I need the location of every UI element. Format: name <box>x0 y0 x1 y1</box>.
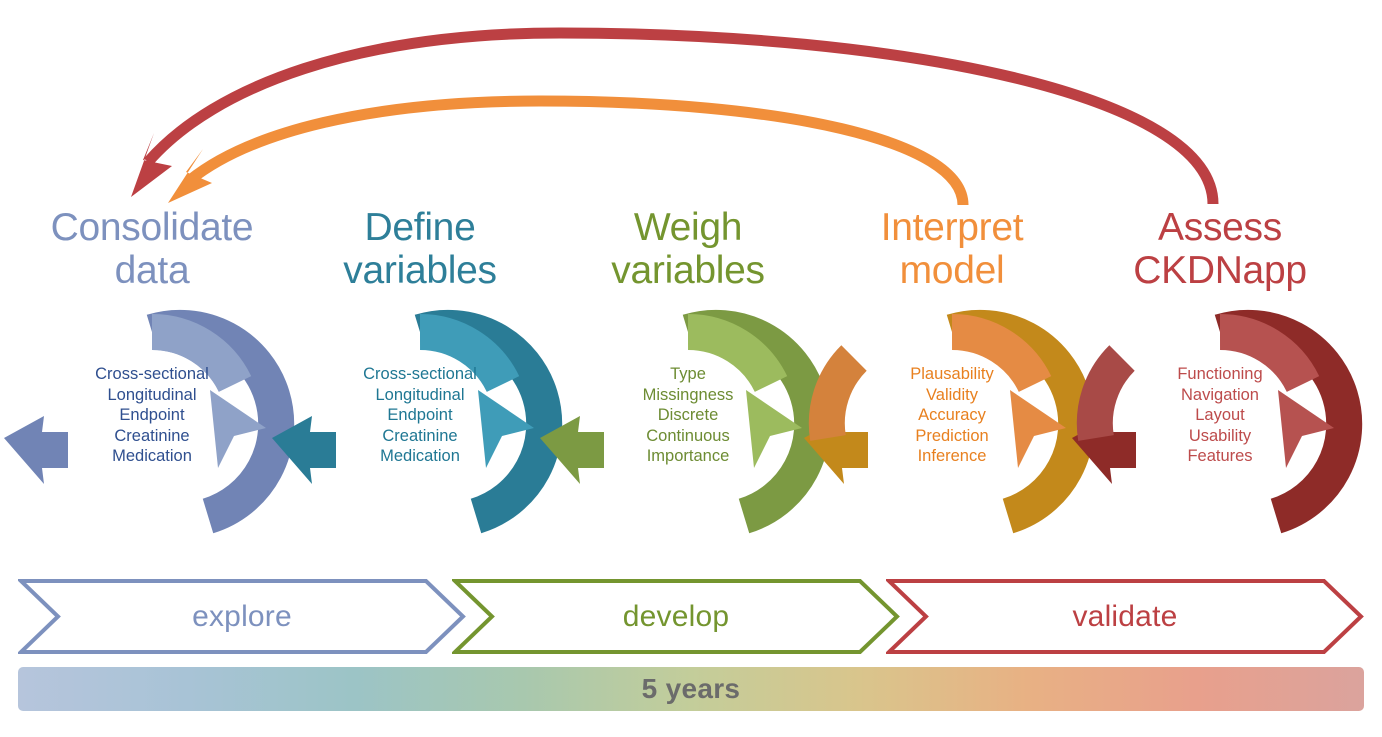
cycle-ring-consolidate: Cross-sectional Longitudinal Endpoint Cr… <box>38 326 266 554</box>
phase-chevron-develop[interactable]: develop <box>452 578 900 655</box>
feedback-arrow-interpret-to-consolidate <box>168 101 963 205</box>
cycle-ring-weigh: Type Missingness Discrete Continuous Imp… <box>574 326 802 554</box>
cycle-labels-weigh: Type Missingness Discrete Continuous Imp… <box>588 364 788 467</box>
phase-chevron-explore[interactable]: explore <box>18 578 466 655</box>
cycle-ring-interpret: Plausability Validity Accuracy Predictio… <box>838 326 1066 554</box>
stage-heading-consolidate: Consolidate data <box>22 206 282 292</box>
phase-label-validate: validate <box>886 578 1364 655</box>
stage-heading-assess: Assess CKDNapp <box>1090 206 1350 292</box>
phase-label-develop: develop <box>452 578 900 655</box>
workflow-diagram: Consolidate data Define variables Weigh … <box>0 0 1382 737</box>
cycle-labels-assess: Functioning Navigation Layout Usability … <box>1120 364 1320 467</box>
cycle-labels-interpret: Plausability Validity Accuracy Predictio… <box>852 364 1052 467</box>
cycle-labels-define: Cross-sectional Longitudinal Endpoint Cr… <box>320 364 520 467</box>
stage-heading-interpret: Interpret model <box>822 206 1082 292</box>
phase-label-explore: explore <box>18 578 466 655</box>
duration-bar: 5 years <box>18 667 1364 711</box>
cycle-ring-define: Cross-sectional Longitudinal Endpoint Cr… <box>306 326 534 554</box>
feedback-arrow-assess-to-consolidate <box>131 33 1213 204</box>
stage-heading-define: Define variables <box>290 206 550 292</box>
phase-chevron-validate[interactable]: validate <box>886 578 1364 655</box>
stage-heading-weigh: Weigh variables <box>558 206 818 292</box>
duration-label: 5 years <box>18 667 1364 711</box>
cycle-labels-consolidate: Cross-sectional Longitudinal Endpoint Cr… <box>52 364 252 467</box>
cycle-ring-assess: Functioning Navigation Layout Usability … <box>1106 326 1334 554</box>
